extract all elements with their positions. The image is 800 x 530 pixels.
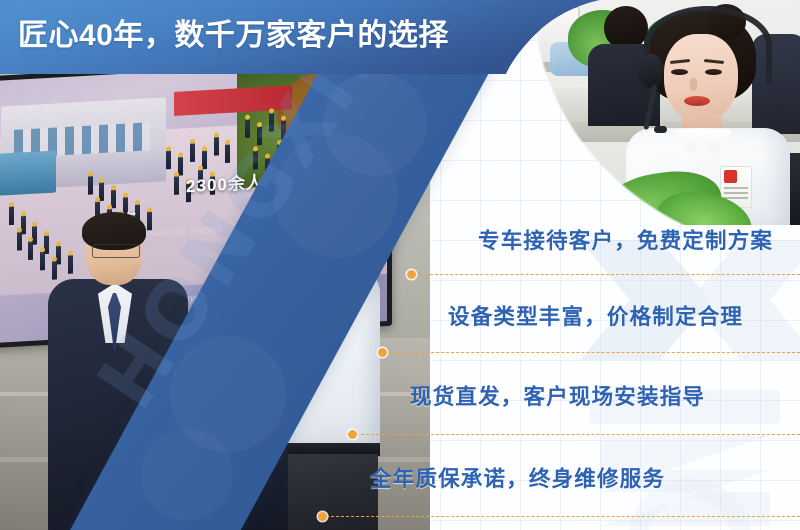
page-title: 匠心40年，数千万家客户的选择 [18,14,449,58]
separator-dot-1 [407,270,416,279]
feature-list: 专车接待客户，免费定制方案 设备类型丰富，价格制定合理 现货直发，客户现场安装指… [330,212,800,530]
feature-text-2: 设备类型丰富，价格制定合理 [448,300,743,331]
feature-separator-3 [348,434,800,436]
promo-banner: 在 2300余人 HONGXING GROUP e the than 2300 … [0,0,800,530]
separator-dot-3 [348,430,357,439]
feature-text-3: 现货直发，客户现场安装指导 [410,380,705,411]
feature-separator-1 [407,274,800,276]
feature-text-1: 专车接待客户，免费定制方案 [478,224,773,255]
feature-separator-2 [378,352,800,354]
feature-separator-4 [318,516,800,518]
separator-dot-2 [378,348,387,357]
feature-text-4: 全年质保承诺，终身维修服务 [370,462,665,493]
